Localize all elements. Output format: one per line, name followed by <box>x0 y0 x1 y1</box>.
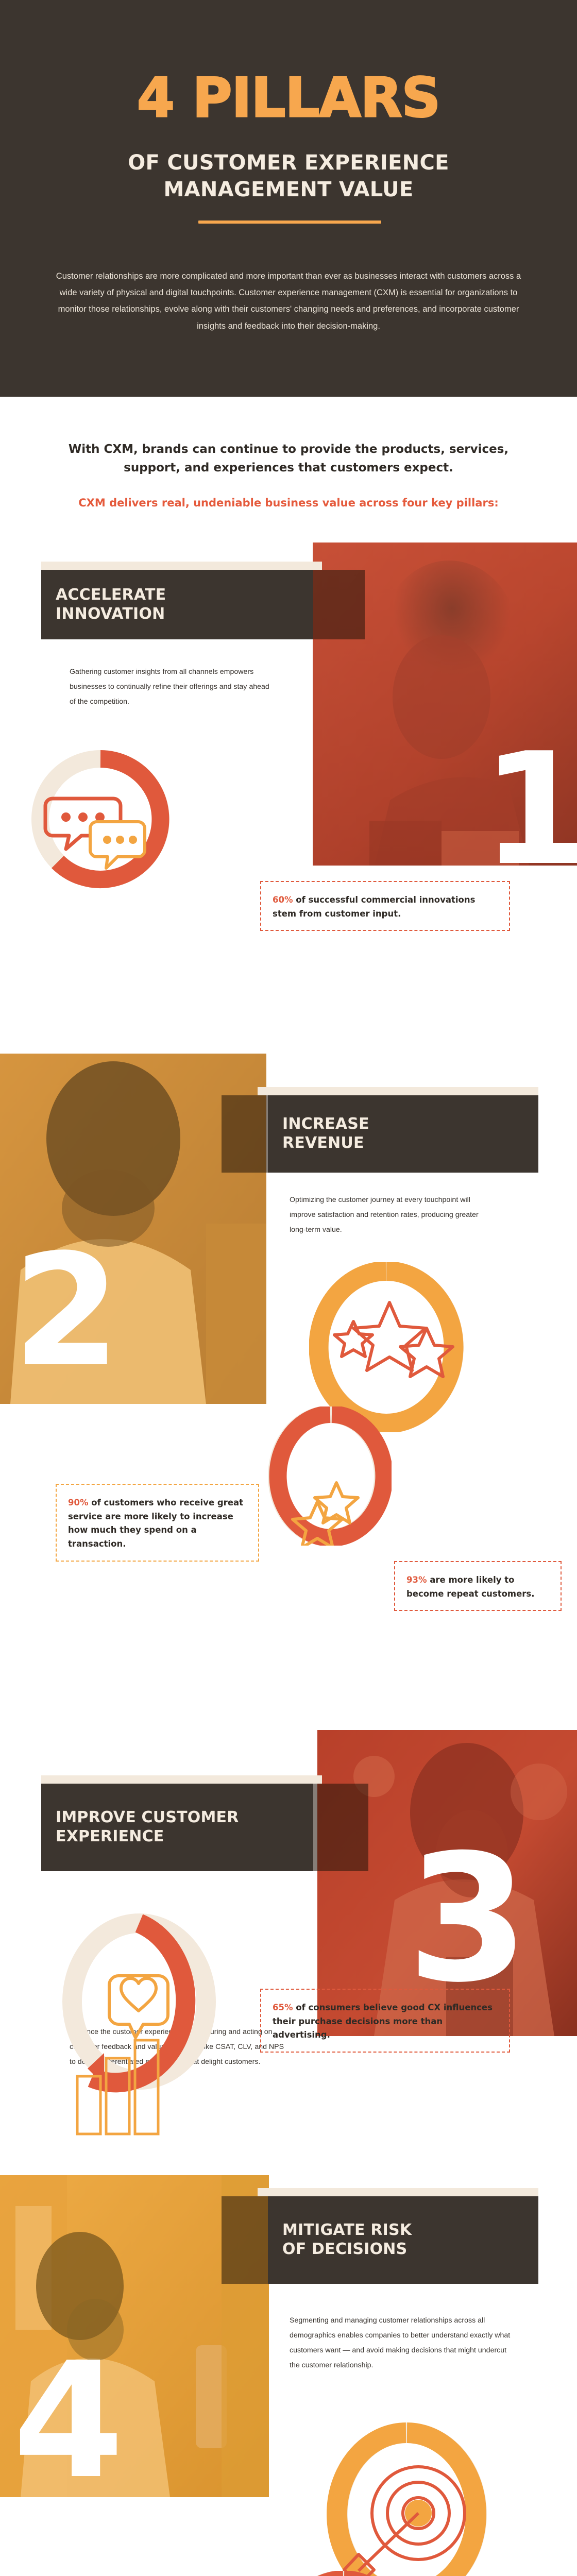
pillar-2-title-line1: INCREASE <box>282 1115 369 1134</box>
pillar-1-stat-1-percent: 60% <box>273 895 293 905</box>
pillar-1-stat-1: 60% of successful commercial innovations… <box>260 881 510 931</box>
pillar-3-title: IMPROVE CUSTOMER EXPERIENCE <box>41 1808 239 1846</box>
page-subtitle: OF CUSTOMER EXPERIENCE MANAGEMENT VALUE <box>57 149 520 203</box>
pillar-3-title-line1: IMPROVE CUSTOMER <box>56 1808 239 1827</box>
pillar-4-number: 4 <box>13 2342 124 2501</box>
pillar-1-stat-1-text: of successful commercial innovations ste… <box>273 895 475 919</box>
pillar-3-stat-1-percent: 65% <box>273 2003 293 2012</box>
intro-lead-text: With CXM, brands can continue to provide… <box>57 440 520 477</box>
pillar-2-number: 2 <box>13 1234 121 1388</box>
pillar-3-title-shadow <box>313 1784 368 1871</box>
pillar-1-number: 1 <box>482 733 577 887</box>
pillar-2-title-strip <box>258 1087 538 1095</box>
pillar-1-title-line1: ACCELERATE <box>56 586 166 605</box>
title-divider <box>198 221 381 224</box>
pillar-3-title-box: IMPROVE CUSTOMER EXPERIENCE <box>41 1784 313 1871</box>
page-subtitle-line2: MANAGEMENT VALUE <box>57 176 520 203</box>
pillar-1-title-strip <box>41 562 322 570</box>
pillar-4-icon-diamond <box>268 2571 417 2576</box>
pillar-3-icon <box>57 1883 237 2141</box>
pillar-4-icon-target <box>325 2421 495 2576</box>
pillar-1-title-line2: INNOVATION <box>56 605 166 624</box>
page-subtitle-line1: OF CUSTOMER EXPERIENCE <box>57 149 520 176</box>
pillar-4-title-line1: MITIGATE RISK <box>282 2221 412 2240</box>
pillar-1-icon <box>31 750 170 889</box>
pillar-4-title: MITIGATE RISK OF DECISIONS <box>268 2221 412 2259</box>
page-title: 4 PILLARS <box>0 71 577 125</box>
pillar-2-icon-stars-2 <box>268 1406 392 1546</box>
pillar-4-body: Segmenting and managing customer relatio… <box>290 2313 511 2373</box>
heart-chat-icon <box>109 1976 168 2038</box>
pillar-2-title-box: INCREASE REVENUE <box>268 1095 538 1173</box>
pillar-2-stat-2-percent: 93% <box>406 1575 427 1585</box>
pillar-4-title-strip <box>258 2188 538 2196</box>
pillar-2-title-shadow <box>222 1095 268 1173</box>
pillar-2-title-line2: REVENUE <box>282 1134 369 1153</box>
pillar-2-body: Optimizing the customer journey at every… <box>290 1193 496 1238</box>
pillar-2-stat-1: 90% of customers who receive great servi… <box>56 1484 259 1562</box>
pillar-3-stat-1-text: of consumers believe good CX influences … <box>273 2003 493 2040</box>
pillar-4-title-box: MITIGATE RISK OF DECISIONS <box>268 2196 538 2284</box>
pillar-3-stat-1: 65% of consumers believe good CX influen… <box>260 1989 510 2053</box>
header-intro-paragraph: Customer relationships are more complica… <box>56 268 521 334</box>
pillar-2-stat-1-text: of customers who receive great service a… <box>68 1498 243 1549</box>
pillar-3-title-line2: EXPERIENCE <box>56 1827 239 1846</box>
pillar-1-title: ACCELERATE INNOVATION <box>41 586 166 623</box>
pillar-2-stat-2: 93% are more likely to become repeat cus… <box>394 1561 562 1611</box>
intro-highlight-text: CXM delivers real, undeniable business v… <box>57 495 520 512</box>
pillar-2-title: INCREASE REVENUE <box>268 1115 369 1153</box>
header-banner: 4 PILLARS OF CUSTOMER EXPERIENCE MANAGEM… <box>0 0 577 397</box>
pillar-3-title-strip <box>41 1775 322 1784</box>
pillar-4-title-line2: OF DECISIONS <box>282 2240 412 2259</box>
pillar-2-stat-1-percent: 90% <box>68 1498 89 1507</box>
pillar-4-title-shadow <box>222 2196 268 2284</box>
pillar-1-title-box: ACCELERATE INNOVATION <box>41 570 313 639</box>
pillar-1-title-shadow <box>313 570 365 639</box>
pillar-1-body: Gathering customer insights from all cha… <box>70 665 273 709</box>
pillar-3-number: 3 <box>407 1832 529 2007</box>
